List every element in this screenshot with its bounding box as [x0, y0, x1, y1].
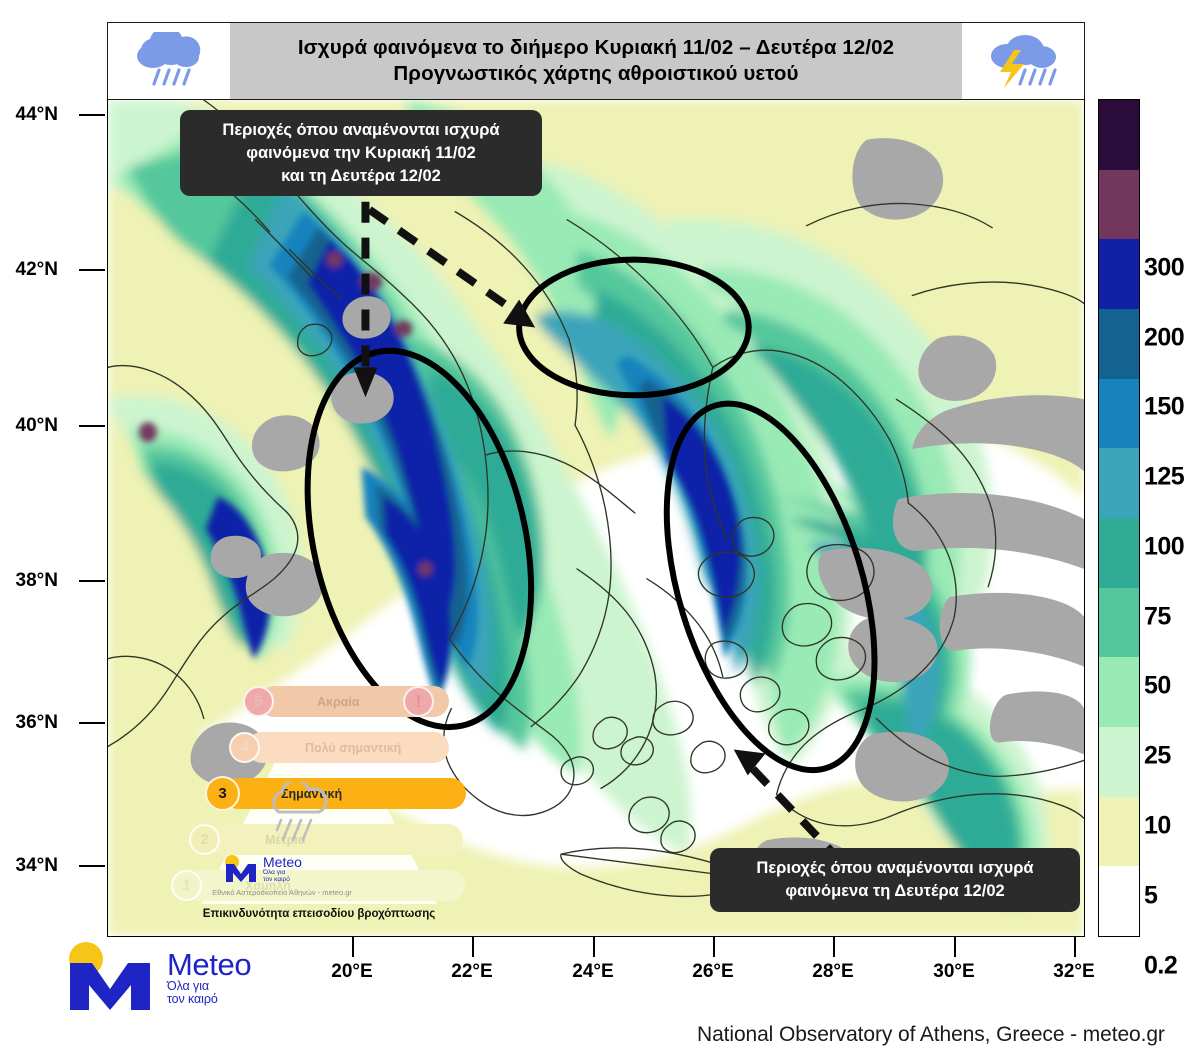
- xtick-label-26E: 26°E: [692, 961, 733, 983]
- thunderstorm-cloud-icon: [962, 23, 1084, 99]
- ytick-mark-42N: [79, 269, 105, 271]
- xtick-label-20E: 20°E: [331, 961, 372, 983]
- meteo-mark-small: [223, 855, 259, 883]
- colorbar-band-75-100: [1099, 448, 1139, 518]
- colorbar-band-150-200: [1099, 239, 1139, 309]
- callout-bottom-line-1: Περιοχές όπου αναμένονται ισχυρά: [726, 857, 1064, 880]
- xtick-mark-24E: [593, 937, 595, 957]
- colorbar-band-100-125: [1099, 379, 1139, 449]
- severity-badge-5: 5: [243, 686, 274, 717]
- severity-number-3: 3: [218, 785, 226, 802]
- xtick-label-24E: 24°E: [572, 961, 613, 983]
- colorbar-tick-300: 300: [1144, 254, 1184, 283]
- pyramid-caption: Επικινδυνότητα επεισοδίου βροχόπτωσης: [163, 908, 475, 920]
- xtick-mark-28E: [833, 937, 835, 957]
- callout-top-line-2: φαινόμενα την Κυριακή 11/02: [196, 142, 526, 165]
- xtick-label-30E: 30°E: [933, 961, 974, 983]
- callout-sunday-monday: Περιοχές όπου αναμένονται ισχυρά φαινόμε…: [180, 110, 542, 196]
- colorbar-band-25-50: [1099, 588, 1139, 658]
- colorbar-tick-75: 75: [1144, 603, 1171, 632]
- brand-tagline-1: Όλα για: [167, 980, 251, 993]
- pyramid-brand-sub2: τον καιρό: [263, 877, 302, 884]
- severity-number-5: 5: [254, 693, 262, 710]
- xtick-mark-22E: [472, 937, 474, 957]
- callout-bottom-line-2: φαινόμενα τη Δευτέρα 12/02: [726, 880, 1064, 903]
- severity-pill-3: Σημαντική: [223, 778, 466, 809]
- xtick-mark-30E: [954, 937, 956, 957]
- severity-pyramid-legend: Ακραία Πολύ σημαντική Σημαντική Μέτρια Χ…: [163, 672, 475, 930]
- ytick-label-44N: 44°N: [16, 104, 58, 126]
- ytick-label-36N: 36°N: [16, 712, 58, 734]
- precipitation-colorbar: 300 200 150 125 100 75 50 25 10 5 0.2: [1098, 99, 1140, 937]
- meteo-brand-logo: Meteo Όλα για τον καιρό: [62, 942, 251, 1012]
- colorbar-band-0.2-5: [1099, 797, 1139, 867]
- colorbar-band-50-75: [1099, 518, 1139, 588]
- exclamation-mark-icon: !: [403, 686, 434, 717]
- colorbar-tick-50: 50: [1144, 672, 1171, 701]
- colorbar-tick-0.2: 0.2: [1144, 952, 1177, 981]
- colorbar-band-5-10: [1099, 727, 1139, 797]
- xtick-label-32E: 32°E: [1053, 961, 1094, 983]
- colorbar-tick-125: 125: [1144, 463, 1184, 492]
- severity-badge-4: 4: [229, 732, 260, 763]
- ytick-label-40N: 40°N: [16, 415, 58, 437]
- severity-pill-2: Μέτρια: [207, 824, 463, 855]
- xtick-mark-20E: [352, 937, 354, 957]
- ytick-label-34N: 34°N: [16, 855, 58, 877]
- title-text-block: Ισχυρά φαινόμενα το διήμερο Κυριακή 11/0…: [230, 23, 962, 99]
- colorbar-tick-5: 5: [1144, 882, 1157, 911]
- meteo-mark-icon: [62, 942, 158, 1012]
- colorbar-tick-100: 100: [1144, 533, 1184, 562]
- severity-number-4: 4: [240, 739, 248, 756]
- xtick-label-22E: 22°E: [451, 961, 492, 983]
- colorbar-tick-200: 200: [1144, 324, 1184, 353]
- severity-label-4: Πολύ σημαντική: [305, 741, 401, 755]
- severity-number-2: 2: [200, 831, 208, 848]
- colorbar-band-below-0.2: [1099, 866, 1139, 936]
- severity-label-5: Ακραία: [317, 695, 360, 709]
- ytick-mark-40N: [79, 425, 105, 427]
- colorbar-bands: [1098, 99, 1140, 937]
- callout-monday: Περιοχές όπου αναμένονται ισχυρά φαινόμε…: [710, 848, 1080, 912]
- rain-cloud-outline-icon: [261, 782, 333, 844]
- callout-top-line-1: Περιοχές όπου αναμένονται ισχυρά: [196, 119, 526, 142]
- pyramid-meteo-logo: Meteo Όλα για τον καιρό: [223, 855, 302, 883]
- ytick-label-38N: 38°N: [16, 570, 58, 592]
- ytick-mark-44N: [79, 114, 105, 116]
- ytick-label-42N: 42°N: [16, 259, 58, 281]
- xtick-label-28E: 28°E: [812, 961, 853, 983]
- ytick-mark-38N: [79, 580, 105, 582]
- brand-tagline-2: τον καιρό: [167, 993, 251, 1006]
- callout-top-line-3: και τη Δευτέρα 12/02: [196, 165, 526, 188]
- severity-badge-3: 3: [205, 776, 240, 811]
- colorbar-band-10-25: [1099, 657, 1139, 727]
- colorbar-tick-150: 150: [1144, 393, 1184, 422]
- colorbar-band-200-300: [1099, 170, 1139, 240]
- title-line-2: Προγνωστικός χάρτης αθροιστικού υετού: [393, 61, 798, 87]
- ytick-mark-36N: [79, 722, 105, 724]
- footer-credit: National Observatory of Athens, Greece -…: [697, 1023, 1165, 1047]
- ytick-mark-34N: [79, 865, 105, 867]
- pyramid-brand-name: Meteo: [263, 855, 302, 870]
- colorbar-tick-25: 25: [1144, 742, 1171, 771]
- colorbar-band-125-150: [1099, 309, 1139, 379]
- rain-cloud-icon: [108, 23, 230, 99]
- severity-pill-4: Πολύ σημαντική: [247, 732, 449, 763]
- xtick-mark-32E: [1074, 937, 1076, 957]
- colorbar-band-above-300: [1099, 100, 1139, 170]
- title-line-1: Ισχυρά φαινόμενα το διήμερο Κυριακή 11/0…: [298, 35, 894, 61]
- brand-name: Meteo: [167, 949, 251, 980]
- xtick-mark-26E: [713, 937, 715, 957]
- title-banner: Ισχυρά φαινόμενα το διήμερο Κυριακή 11/0…: [107, 22, 1085, 100]
- weather-forecast-figure: 44°N 42°N 40°N 38°N 36°N 34°N 20°E 22°E …: [0, 0, 1201, 1064]
- pyramid-source-text: Εθνικό Αστεροσκοπείο Αθηνών - meteo.gr: [163, 888, 401, 897]
- severity-badge-2: 2: [189, 824, 220, 855]
- colorbar-tick-10: 10: [1144, 812, 1171, 841]
